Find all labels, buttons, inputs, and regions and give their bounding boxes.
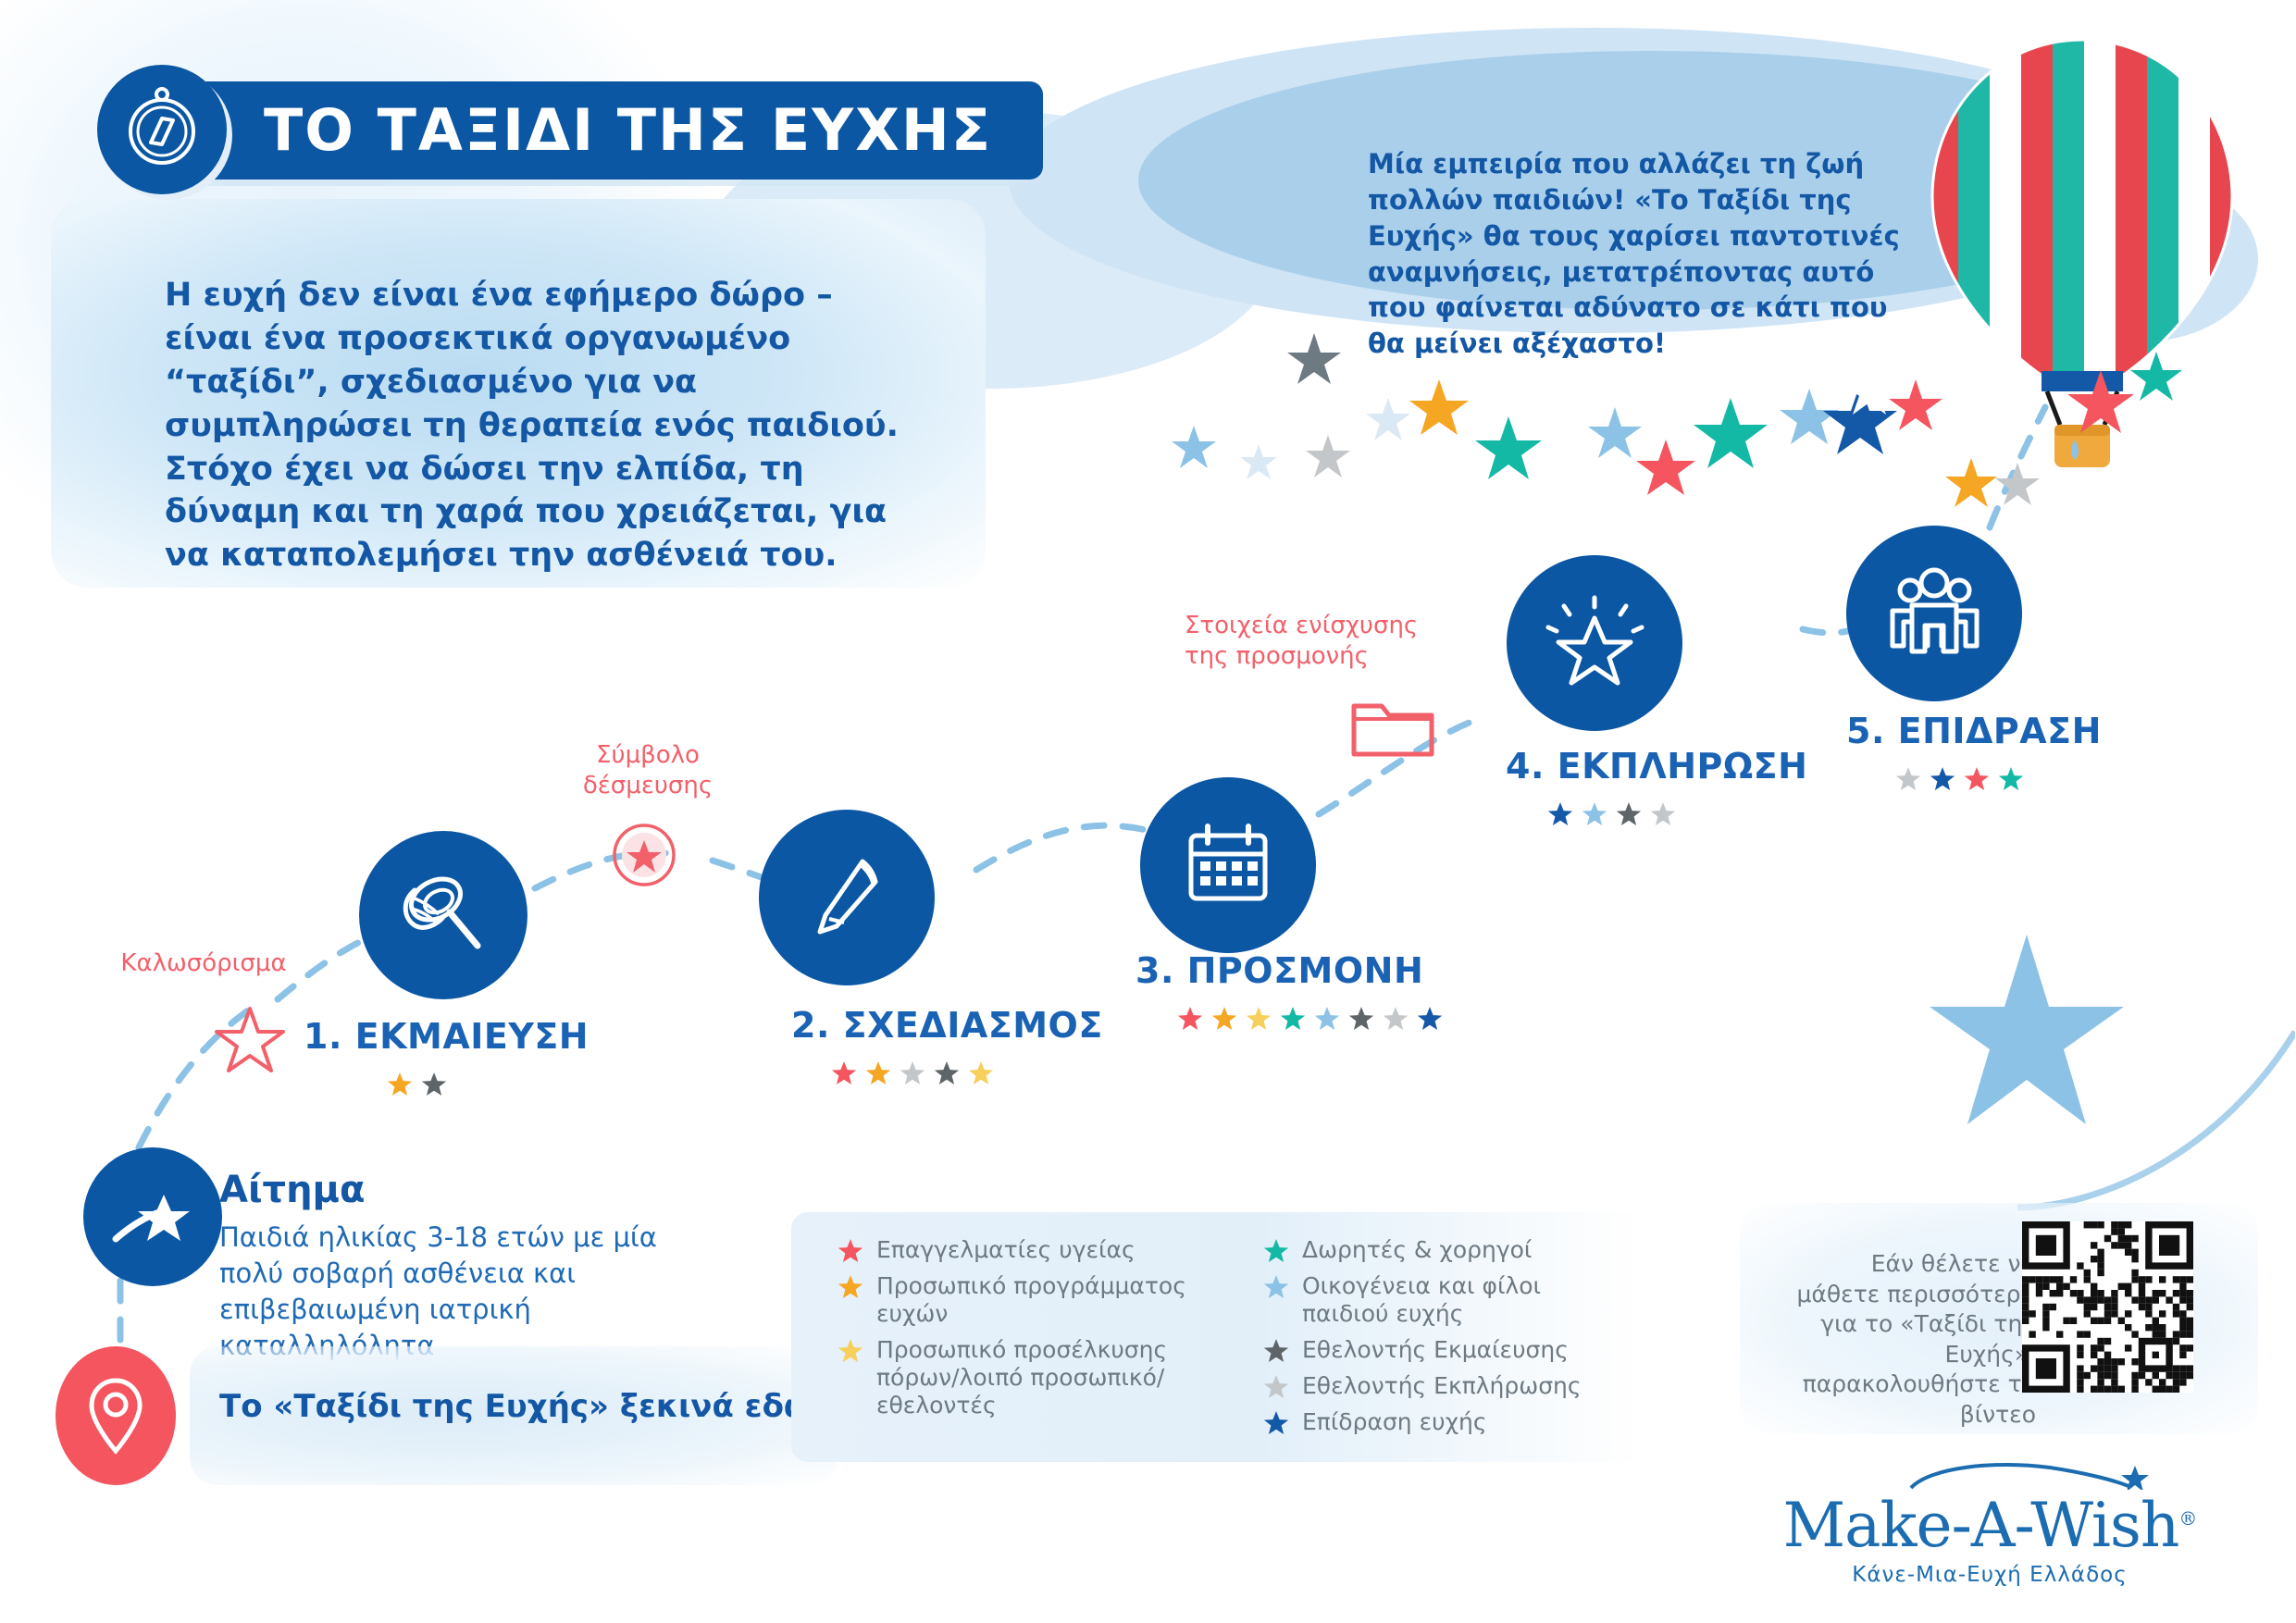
star-icon <box>1964 766 1990 792</box>
legend-item-label: Επαγγελματίες υγείας <box>876 1236 1136 1264</box>
annotation-welcome: Καλωσόρισμα <box>102 948 305 979</box>
request-node[interactable] <box>83 1147 222 1286</box>
commitment-badge-icon <box>611 822 677 888</box>
legend-item-label: Εθελοντής Εκπλήρωσης <box>1302 1372 1582 1400</box>
star-icon <box>1417 1006 1443 1032</box>
qr-code-icon[interactable] <box>2022 1221 2193 1393</box>
map-pin-node[interactable] <box>56 1346 176 1485</box>
step-node-4[interactable] <box>1507 555 1682 731</box>
annotation-commitment: Σύμβολο δέσμευσης <box>546 740 750 800</box>
star-icon <box>838 1338 863 1364</box>
intro-right-paragraph: Μία εμπειρία που αλλάζει τη ζωή πολλών π… <box>1368 146 1905 362</box>
star-icon <box>1582 801 1607 827</box>
star-icon <box>1348 1006 1374 1032</box>
step-stars-4 <box>1547 801 1676 827</box>
logo-wordmark: Make-A-Wish® <box>1772 1490 2207 1561</box>
star-burst-icon <box>1542 590 1648 697</box>
step-label-1: 1. ΕΚΜΑΙΕΥΣΗ <box>304 1016 589 1057</box>
star-icon <box>387 1072 413 1097</box>
start-prefix: Το <box>219 1388 273 1425</box>
star-icon <box>1547 801 1573 827</box>
legend-column-left: Επαγγελματίες υγείαςΠροσωπικό προγράμματ… <box>838 1236 1235 1428</box>
legend-item-label: Οικογένεια και φίλοι παιδιού ευχής <box>1302 1272 1624 1328</box>
compass-icon <box>97 65 227 194</box>
legend-item: Προσωπικό προσέλκυσης πόρων/λοιπό προσωπ… <box>838 1336 1235 1419</box>
step-node-1[interactable] <box>359 831 527 999</box>
logo-registered-mark: ® <box>2178 1507 2196 1530</box>
star-icon <box>838 1238 863 1264</box>
star-icon <box>900 1060 925 1086</box>
star-icon <box>1263 1410 1289 1436</box>
star-icon <box>968 1060 994 1086</box>
start-bold: «Ταξίδι της Ευχής» <box>273 1388 609 1425</box>
decorative-swoosh <box>2017 976 2295 1217</box>
star-icon <box>1211 1006 1237 1032</box>
page-title: ΤΟ ΤΑΞΙΔΙ ΤΗΣ ΕΥΧΗΣ <box>264 96 992 164</box>
butterfly-net-icon <box>392 864 494 966</box>
welcome-star-outline-icon <box>213 1004 287 1078</box>
people-group-icon <box>1881 561 1988 667</box>
star-icon <box>1895 766 1921 792</box>
star-icon <box>1616 801 1642 827</box>
step-label-5: 5. ΕΠΙΔΡΑΣΗ <box>1846 711 2102 751</box>
legend-item-label: Προσωπικό προγράμματος ευχών <box>876 1272 1235 1328</box>
video-invite-text: Εάν θέλετε να μάθετε περισσότερα για το … <box>1786 1249 2036 1430</box>
step-label-4: 4. ΕΚΠΛΗΡΩΣΗ <box>1506 746 1807 787</box>
legend-item-label: Επίδραση ευχής <box>1302 1408 1487 1436</box>
star-icon <box>1650 801 1676 827</box>
star-icon <box>831 1060 857 1086</box>
star-icon <box>1280 1006 1306 1032</box>
step-stars-5 <box>1895 766 2024 792</box>
legend-item: Δωρητές & χορηγοί <box>1263 1236 1624 1264</box>
pencil-icon <box>796 847 898 948</box>
request-body: Παιδιά ηλικίας 3-18 ετών με μία πολύ σοβ… <box>219 1220 701 1363</box>
star-icon <box>1263 1238 1289 1264</box>
start-here-text: Το «Ταξίδι της Ευχής» ξεκινά εδώ! <box>219 1388 825 1425</box>
star-icon <box>838 1274 863 1300</box>
step-node-2[interactable] <box>759 810 935 985</box>
request-title: Αίτημα <box>219 1169 365 1211</box>
step-node-3[interactable] <box>1140 777 1316 953</box>
legend-item: Επίδραση ευχής <box>1263 1408 1624 1436</box>
star-icon <box>1263 1274 1289 1300</box>
intro-left-paragraph: Η ευχή δεν είναι ένα εφήμερο δώρο – είνα… <box>165 274 905 577</box>
step-stars-3 <box>1177 1006 1443 1032</box>
step-label-3: 3. ΠΡΟΣΜΟΝΗ <box>1136 950 1423 991</box>
legend-item: Οικογένεια και φίλοι παιδιού ευχής <box>1263 1272 1624 1328</box>
legend-item: Προσωπικό προγράμματος ευχών <box>838 1272 1235 1328</box>
step-node-5[interactable] <box>1846 526 2022 701</box>
annotation-anticipation: Στοιχεία ενίσχυσης της προσμονής <box>1185 611 1453 671</box>
star-icon <box>865 1060 891 1086</box>
star-icon <box>1263 1338 1289 1364</box>
legend-panel: Επαγγελματίες υγείαςΠροσωπικό προγράμματ… <box>791 1212 1643 1462</box>
legend-column-right: Δωρητές & χορηγοίΟικογένεια και φίλοι πα… <box>1263 1236 1624 1444</box>
star-icon <box>1314 1006 1340 1032</box>
legend-item: Εθελοντής Εκμαίευσης <box>1263 1336 1624 1364</box>
map-pin-icon <box>81 1371 151 1460</box>
star-icon <box>1177 1006 1203 1032</box>
legend-item-label: Δωρητές & χορηγοί <box>1302 1236 1532 1264</box>
logo-subtitle: Κάνε-Μια-Ευχή Ελλάδος <box>1772 1563 2207 1587</box>
legend-item: Επαγγελματίες υγείας <box>838 1236 1235 1264</box>
star-icon <box>1998 766 2024 792</box>
legend-item-label: Προσωπικό προσέλκυσης πόρων/λοιπό προσωπ… <box>876 1336 1235 1419</box>
legend-item-label: Εθελοντής Εκμαίευσης <box>1302 1336 1569 1364</box>
star-icon <box>421 1072 447 1097</box>
star-icon <box>1246 1006 1272 1032</box>
star-icon <box>1383 1006 1409 1032</box>
legend-item: Εθελοντής Εκπλήρωσης <box>1263 1372 1624 1400</box>
star-icon <box>1263 1374 1289 1400</box>
step-stars-1 <box>387 1072 447 1097</box>
shooting-star-icon <box>106 1171 199 1263</box>
folder-icon <box>1347 689 1439 763</box>
star-icon <box>934 1060 960 1086</box>
hot-air-balloon-icon <box>1906 32 2258 514</box>
make-a-wish-logo: Make-A-Wish® Κάνε-Μια-Ευχή Ελλάδος <box>1772 1462 2207 1587</box>
step-label-2: 2. ΣΧΕΔΙΑΣΜΟΣ <box>791 1005 1103 1046</box>
logo-swoosh-icon <box>1772 1462 2207 1490</box>
calendar-icon <box>1176 813 1280 917</box>
step-stars-2 <box>831 1060 994 1086</box>
star-icon <box>1930 766 1955 792</box>
logo-main-text: Make-A-Wish <box>1783 1490 2179 1561</box>
